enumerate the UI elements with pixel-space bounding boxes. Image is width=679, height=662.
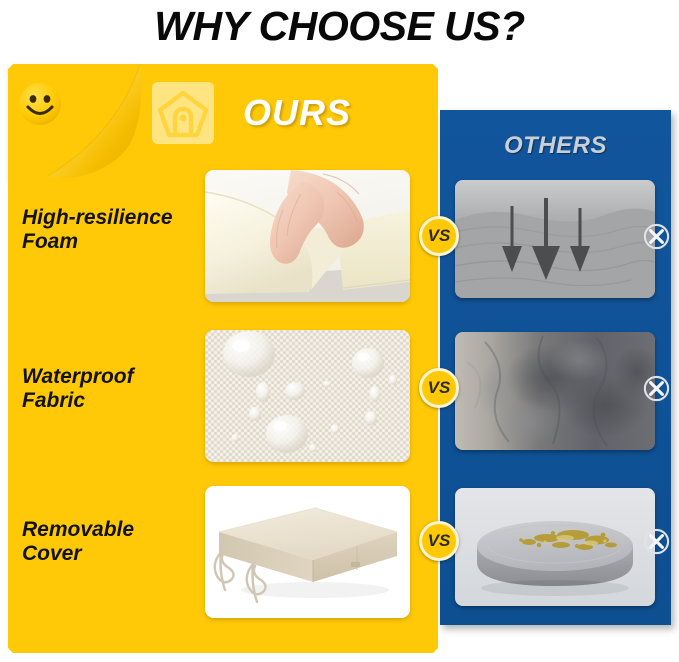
ours-image-water-droplets-on-fabric [205,330,410,462]
feature-label-line1: High-resilience [22,206,202,230]
others-image-sagging-foam [455,180,655,298]
feature-label-line2: Cover [22,542,202,566]
pet-house-logo-icon [152,82,214,144]
others-panel: OTHERS [440,110,671,625]
feature-label-line2: Foam [22,230,202,254]
circle-x-icon [643,375,670,402]
feature-label-line2: Fabric [22,389,202,413]
feature-label-waterproof-fabric: Waterproof Fabric [22,365,202,414]
circle-x-icon [643,528,670,555]
ours-image-hand-pinching-foam [205,170,410,302]
feature-label-removable-cover: Removable Cover [22,518,202,567]
others-image-stained-cushion [455,488,655,606]
others-image-soaked-fabric [455,332,655,450]
feature-label-line1: Removable [22,518,202,542]
vs-badge: VS [419,368,459,408]
vs-badge: VS [419,216,459,256]
vs-badge: VS [419,521,459,561]
circle-x-icon [643,223,670,250]
ours-heading: OURS [243,92,351,134]
page-title: WHY CHOOSE US? [0,0,679,52]
ours-image-beige-cushion-with-ties [205,486,410,618]
others-heading: OTHERS [440,132,671,160]
feature-label-line1: Waterproof [22,365,202,389]
smiley-face-icon [16,80,64,128]
feature-label-high-resilience-foam: High-resilience Foam [22,206,202,255]
